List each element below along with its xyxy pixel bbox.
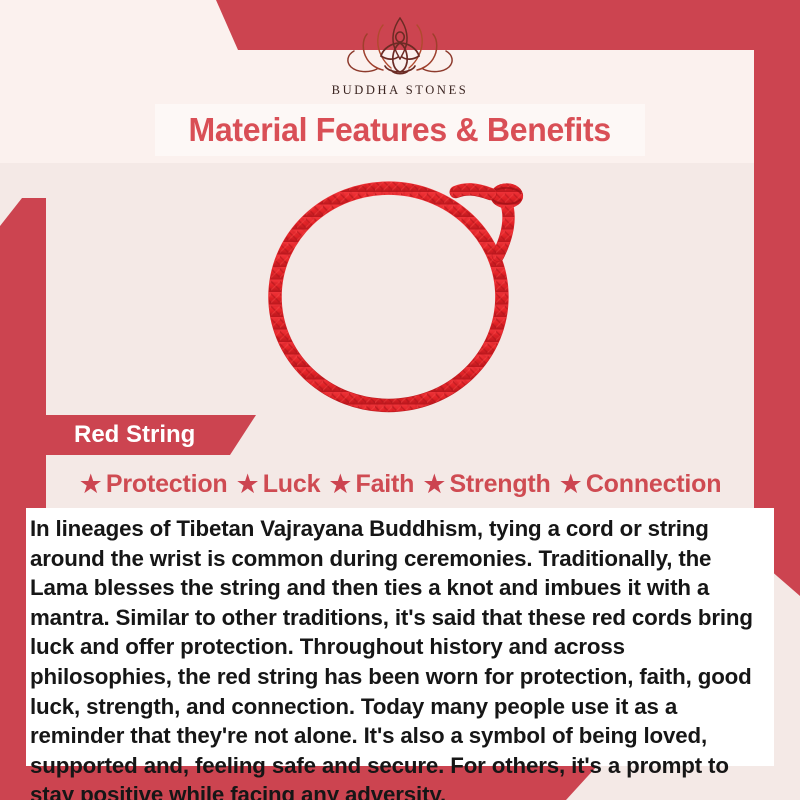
star-icon: ★ [328, 471, 352, 498]
star-icon: ★ [236, 471, 260, 498]
star-icon: ★ [79, 471, 103, 498]
benefit-label: Connection [586, 470, 722, 499]
description-card: In lineages of Tibetan Vajrayana Buddhis… [26, 508, 774, 766]
lotus-meditation-icon [339, 14, 461, 80]
star-icon: ★ [559, 471, 583, 498]
benefits-row: ★ Protection ★ Luck ★ Faith ★ Strength ★… [46, 464, 754, 504]
benefit-label: Protection [106, 470, 228, 499]
benefit-item-protection: ★ Protection [79, 470, 228, 499]
benefit-label: Strength [449, 470, 550, 499]
title-banner: Material Features & Benefits [155, 104, 645, 156]
benefit-item-strength: ★ Strength [422, 470, 550, 499]
benefit-label: Faith [356, 470, 415, 499]
material-label: Red String [74, 421, 195, 449]
red-string-bracelet-illustration [235, 167, 565, 417]
infographic-page: BUDDHA STONES Material Features & Benefi… [0, 0, 800, 800]
brand-name: BUDDHA STONES [332, 83, 469, 98]
star-icon: ★ [422, 471, 446, 498]
brand-logo: BUDDHA STONES [0, 14, 800, 98]
page-title: Material Features & Benefits [189, 111, 611, 149]
product-image [46, 163, 754, 421]
material-label-banner: Red String [26, 415, 256, 455]
benefit-item-connection: ★ Connection [559, 470, 722, 499]
benefit-item-luck: ★ Luck [236, 470, 321, 499]
benefit-item-faith: ★ Faith [328, 470, 414, 499]
description-text: In lineages of Tibetan Vajrayana Buddhis… [30, 514, 772, 800]
benefit-label: Luck [263, 470, 321, 499]
